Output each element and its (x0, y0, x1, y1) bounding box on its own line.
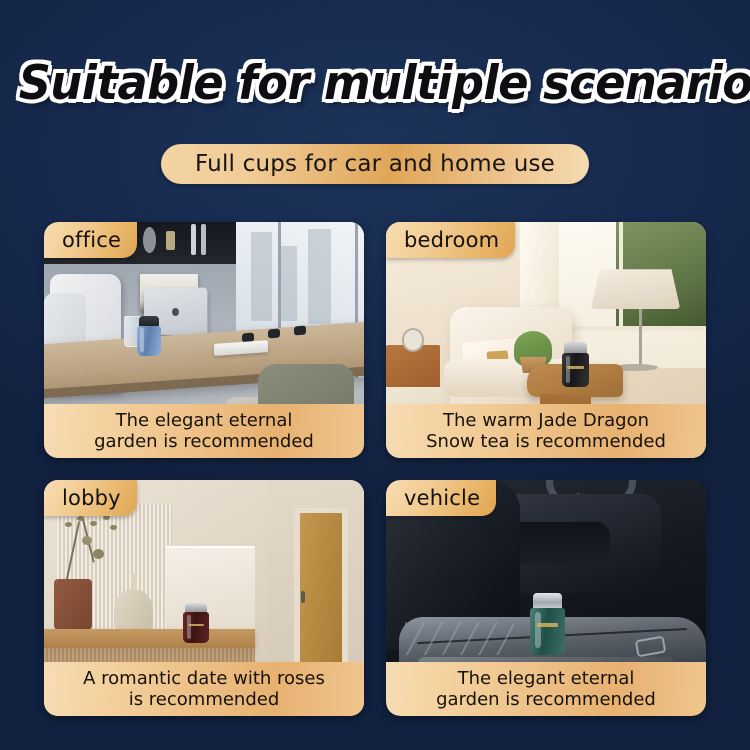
caption-line-1: The warm Jade Dragon (443, 410, 649, 431)
product-bottle-black (562, 342, 589, 387)
office-table-grommet (294, 325, 306, 335)
bedroom-lamp-pole (639, 309, 642, 366)
scenario-card-vehicle[interactable]: vehicle The elegant eternal garden is re… (386, 480, 706, 716)
caption-line-2: Snow tea is recommended (426, 431, 666, 452)
office-shelf-decor (191, 224, 196, 255)
office-shelf-decor (143, 227, 156, 253)
scenario-card-grid: office The elegant eternal garden is rec… (44, 222, 706, 716)
bottle-label (567, 366, 583, 369)
caption-line-2: is recommended (129, 689, 280, 710)
bedroom-clock (402, 328, 424, 352)
office-table-grommet (268, 329, 280, 339)
bottle-highlight (187, 615, 191, 639)
product-bottle-blue (137, 316, 161, 356)
caption-line-1: A romantic date with roses (83, 668, 325, 689)
bottle-highlight (566, 356, 570, 383)
header: Suitable for multiple scenarios Full cup… (0, 0, 750, 215)
card-caption-bedroom: The warm Jade Dragon Snow tea is recomme… (386, 404, 706, 458)
office-shelf-decor (166, 231, 176, 250)
office-shelf-decor (201, 224, 206, 255)
promo-page: Suitable for multiple scenarios Full cup… (0, 0, 750, 750)
card-badge-lobby: lobby (44, 480, 137, 516)
bottle-label (537, 623, 558, 627)
lobby-branches (57, 513, 140, 589)
lobby-console-base (44, 648, 255, 662)
bottle-label (188, 624, 203, 627)
card-caption-vehicle: The elegant eternal garden is recommende… (386, 662, 706, 716)
page-title: Suitable for multiple scenarios (19, 56, 732, 111)
lobby-console-table (44, 629, 255, 648)
bottle-cap (533, 593, 563, 609)
product-bottle-teal (530, 593, 565, 654)
caption-line-2: garden is recommended (94, 431, 314, 452)
card-badge-vehicle: vehicle (386, 480, 496, 516)
product-bottle-red (183, 603, 209, 643)
card-caption-office: The elegant eternal garden is recommende… (44, 404, 364, 458)
caption-line-1: The elegant eternal (458, 668, 635, 689)
scenario-card-office[interactable]: office The elegant eternal garden is rec… (44, 222, 364, 458)
bedroom-lamp-shade (591, 269, 681, 309)
caption-line-1: The elegant eternal (116, 410, 293, 431)
caption-line-2: garden is recommended (436, 689, 656, 710)
vehicle-seat-stitching (405, 622, 514, 655)
bottle-highlight (140, 328, 144, 352)
card-badge-bedroom: bedroom (386, 222, 515, 258)
subtitle-pill: Full cups for car and home use (161, 144, 589, 184)
lobby-door (300, 513, 342, 669)
lobby-wall-panel (166, 546, 256, 636)
lobby-glass-vase (54, 579, 92, 631)
lobby-door-handle (301, 591, 305, 603)
bedroom-window-sill (559, 326, 706, 331)
card-badge-office: office (44, 222, 137, 258)
lobby-ceramic-vase (114, 589, 152, 631)
bottle-highlight (535, 612, 541, 649)
scenario-card-lobby[interactable]: lobby A romantic date with roses is reco… (44, 480, 364, 716)
scenario-card-bedroom[interactable]: bedroom The warm Jade Dragon Snow tea is… (386, 222, 706, 458)
card-caption-lobby: A romantic date with roses is recommende… (44, 662, 364, 716)
